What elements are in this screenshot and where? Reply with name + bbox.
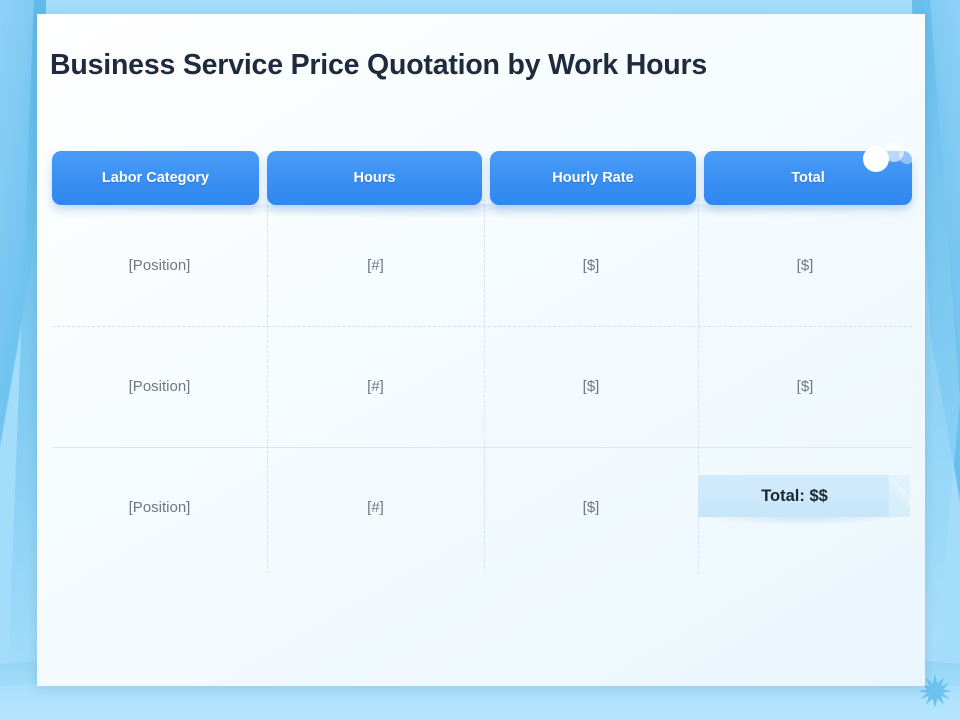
total-banner-shadow bbox=[702, 517, 902, 525]
cell-labor-category: [Position] bbox=[52, 205, 267, 326]
column-header-labor-category[interactable]: Labor Category bbox=[52, 151, 259, 205]
cell-total: [$] bbox=[698, 326, 912, 447]
column-header-hourly-rate[interactable]: Hourly Rate bbox=[490, 151, 696, 205]
cell-hourly-rate: [$] bbox=[484, 205, 698, 326]
cell-labor-category: [Position] bbox=[52, 447, 267, 568]
cell-hourly-rate: [$] bbox=[484, 326, 698, 447]
header-shadow bbox=[52, 204, 912, 218]
table-bottom-rule bbox=[52, 447, 912, 448]
circle-small-icon bbox=[899, 148, 915, 164]
slide-canvas: Business Service Price Quotation by Work… bbox=[0, 0, 960, 720]
cell-hours: [#] bbox=[267, 447, 484, 568]
total-banner-fold bbox=[889, 475, 910, 517]
cell-hours: [#] bbox=[267, 205, 484, 326]
content-card: Business Service Price Quotation by Work… bbox=[37, 14, 925, 686]
cell-hourly-rate: [$] bbox=[484, 447, 698, 568]
cell-labor-category: [Position] bbox=[52, 326, 267, 447]
page-title: Business Service Price Quotation by Work… bbox=[50, 49, 707, 82]
table-row[interactable]: [Position] [#] [$] [$] bbox=[52, 326, 912, 447]
total-banner: Total: $$ bbox=[698, 475, 910, 517]
cell-total: [$] bbox=[698, 205, 912, 326]
table-row[interactable]: [Position] [#] [$] [$] bbox=[52, 205, 912, 326]
circles-decoration bbox=[863, 142, 925, 176]
total-banner-label: Total: $$ bbox=[698, 475, 891, 517]
table-header-row: Labor Category Hours Hourly Rate Total bbox=[52, 151, 912, 205]
cell-hours: [#] bbox=[267, 326, 484, 447]
column-header-hours[interactable]: Hours bbox=[267, 151, 482, 205]
